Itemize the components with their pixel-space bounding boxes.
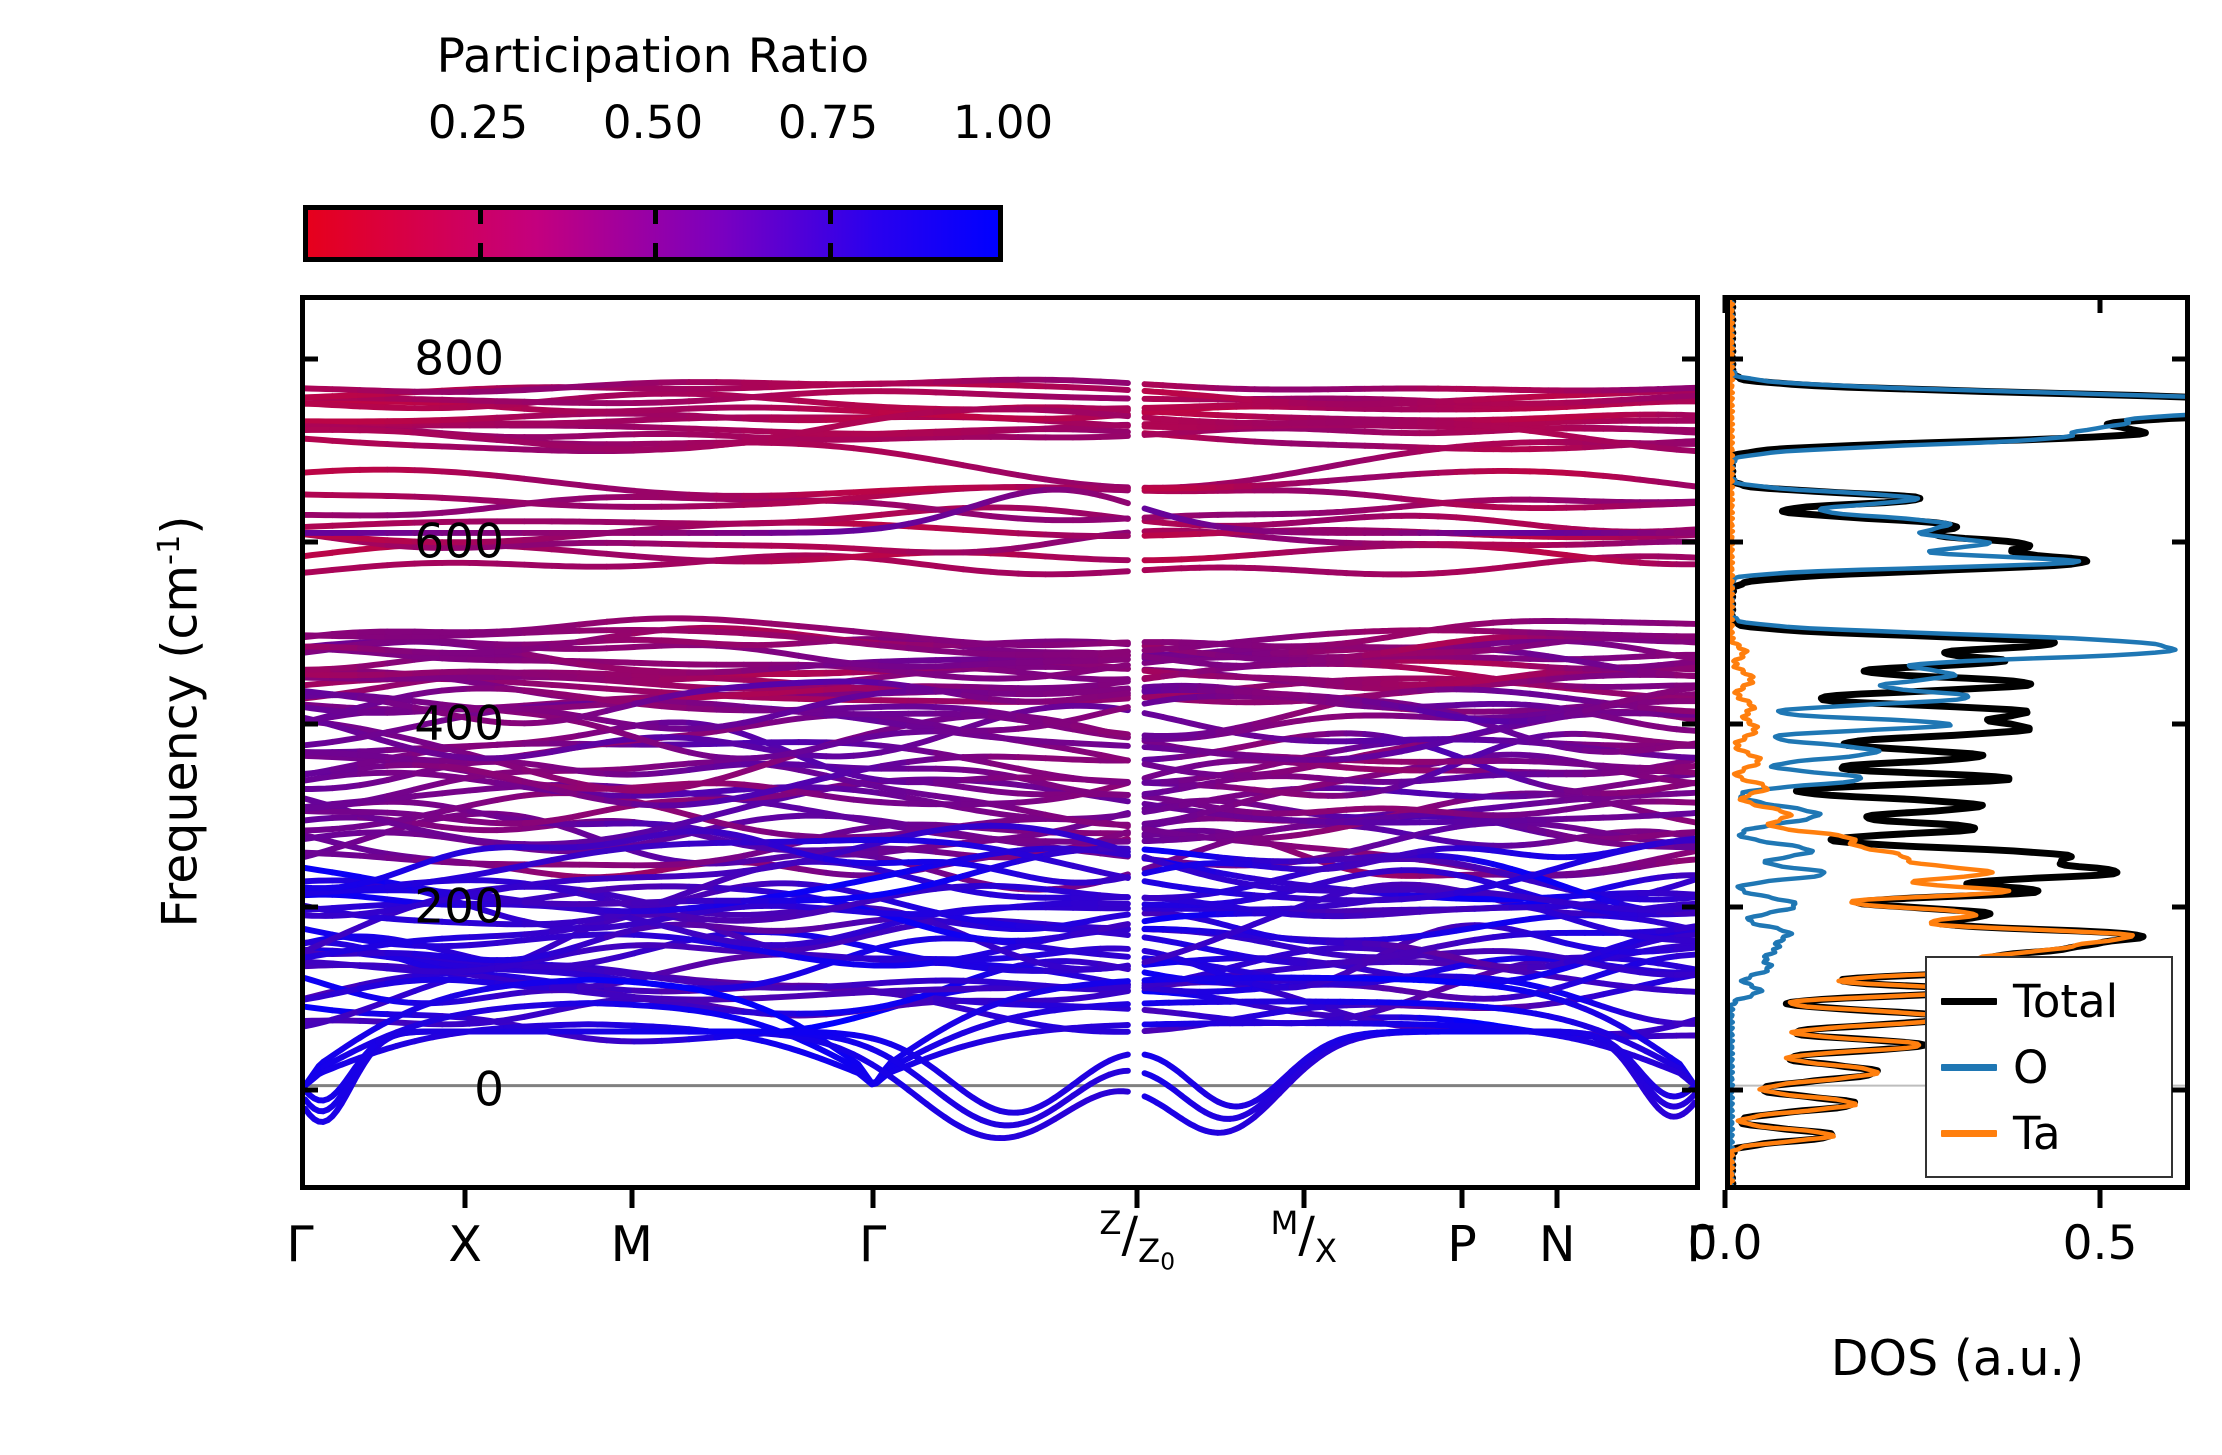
band-segment: [470, 473, 497, 475]
band-segment: [305, 570, 332, 573]
band-segment: [1018, 533, 1045, 534]
band-segment: [662, 493, 690, 495]
band-segment: [881, 559, 908, 562]
band-segment: [442, 677, 470, 678]
band-segment: [470, 959, 497, 960]
band-segment: [579, 985, 606, 988]
band-segment: [387, 391, 414, 392]
band-segment: [908, 749, 935, 753]
colorbar-tick-label: 0.50: [603, 96, 703, 149]
band-segment: [1677, 484, 1695, 486]
band-segment: [908, 962, 935, 965]
band-segment: [305, 788, 332, 789]
band-segment: [799, 965, 826, 974]
band-segment: [442, 1024, 470, 1025]
band-segment: [826, 547, 853, 548]
band-segment: [1100, 430, 1127, 432]
band-segment: [1073, 573, 1101, 574]
band-segment: [881, 490, 908, 491]
band-segment: [1073, 423, 1101, 425]
band-segment: [716, 499, 743, 500]
band-segment: [524, 709, 551, 712]
band-segment: [579, 663, 606, 667]
band-segment: [552, 625, 580, 628]
band-segment: [716, 430, 743, 431]
band-segment: [387, 650, 414, 652]
band-segment: [305, 835, 332, 839]
band-segment: [991, 940, 1018, 941]
band-segment: [689, 495, 716, 496]
figure-root: Participation Ratio 0.250.500.751.00 Fre…: [0, 0, 2222, 1455]
band-segment: [607, 420, 634, 421]
band-segment: [305, 880, 332, 881]
band-segment: [415, 971, 442, 972]
band-segment: [771, 546, 798, 547]
band-segment: [1677, 729, 1695, 730]
band-segment: [716, 808, 743, 815]
band-segment: [387, 407, 414, 408]
band-segment: [716, 442, 743, 445]
band-segment: [442, 498, 470, 499]
band-segment: [1046, 540, 1073, 544]
band-segment: [305, 756, 332, 757]
band-segment: [1073, 949, 1101, 951]
band-segment: [689, 703, 716, 705]
band-segment: [744, 418, 772, 419]
band-segment: [744, 680, 772, 682]
band-segment: [716, 671, 743, 672]
band-segment: [963, 695, 991, 699]
band-segment: [1677, 926, 1695, 929]
band-segment: [387, 899, 414, 902]
band-segment: [552, 387, 580, 389]
band-segment: [771, 394, 798, 396]
band-segment: [662, 808, 690, 815]
band-segment: [634, 556, 661, 558]
band-segment: [936, 714, 963, 715]
band-segment: [579, 969, 606, 972]
band-segment: [607, 911, 634, 912]
band-segment: [524, 538, 551, 540]
band-segment: [716, 764, 743, 766]
band-segment: [387, 726, 414, 732]
band-segment: [1677, 813, 1695, 814]
band-segment: [854, 631, 882, 634]
band-segment: [963, 714, 991, 716]
band-segment: [662, 544, 690, 545]
band-segment: [305, 962, 332, 964]
band-segment: [826, 708, 853, 709]
band-segment: [881, 634, 908, 637]
band-segment: [305, 829, 332, 830]
band-segment: [799, 787, 826, 788]
band-segment: [1100, 954, 1127, 956]
band-segment: [552, 685, 580, 687]
band-segment: [936, 796, 963, 800]
band-segment: [936, 852, 963, 855]
y-axis-label-exponent: -1: [152, 535, 187, 565]
band-segment: [1677, 934, 1695, 936]
band-segment: [1100, 414, 1127, 416]
colorbar-tick-labels: 0.250.500.751.00: [303, 96, 1003, 152]
band-segment: [1073, 714, 1101, 720]
band-segment: [1018, 490, 1045, 494]
band-segment: [607, 995, 634, 997]
band-segment: [991, 820, 1018, 822]
band-segment: [470, 507, 497, 510]
band-segment: [634, 565, 661, 566]
band-segment: [634, 910, 661, 911]
band-segment: [991, 688, 1018, 689]
band-segment: [991, 693, 1018, 694]
band-segment: [1018, 926, 1045, 928]
band-segment: [634, 619, 661, 620]
band-segment: [1100, 987, 1127, 988]
colorbar-tick-mark: [653, 243, 658, 257]
band-segment: [524, 820, 551, 823]
band-segment: [826, 957, 853, 958]
band-segment: [1100, 966, 1127, 969]
band-segment: [387, 682, 414, 686]
band-segment: [305, 471, 332, 473]
band-segment: [908, 408, 935, 409]
band-segment: [744, 914, 772, 915]
band-segment: [799, 940, 826, 944]
band-segment: [497, 1017, 524, 1021]
band-segment: [826, 923, 853, 927]
band-segment: [360, 896, 387, 899]
band-segment: [881, 849, 908, 852]
band-segment: [497, 672, 524, 673]
band-segment: [1073, 691, 1101, 693]
band-segment: [524, 673, 551, 675]
band-segment: [332, 667, 360, 669]
band-segment: [799, 808, 826, 813]
band-segment: [497, 401, 524, 402]
band-segment: [744, 523, 772, 524]
band-segment: [936, 665, 963, 666]
band-segment: [579, 934, 606, 935]
band-segment: [963, 981, 991, 982]
band-segment: [360, 698, 387, 702]
band-segment: [854, 528, 882, 531]
band-segment: [936, 410, 963, 412]
band-segment: [689, 767, 716, 770]
band-segment: [1677, 662, 1695, 664]
band-segment: [799, 836, 826, 837]
band-segment: [579, 447, 606, 449]
band-segment: [936, 780, 963, 782]
band-segment: [442, 400, 470, 401]
band-segment: [607, 434, 634, 435]
colorbar-title: Participation Ratio: [303, 30, 1003, 84]
band-segment: [716, 628, 743, 629]
band-segment: [963, 659, 991, 660]
band-segment: [826, 640, 853, 643]
band-segment: [799, 392, 826, 393]
band-segment: [552, 566, 580, 567]
band-segment: [305, 806, 332, 809]
band-segment: [854, 439, 882, 440]
band-segment: [332, 550, 360, 553]
band-segment: [936, 886, 963, 888]
band-segment: [552, 736, 580, 740]
band-segment: [716, 757, 743, 758]
band-segment: [936, 528, 963, 530]
band-segment: [771, 996, 798, 997]
band-segment: [1073, 778, 1101, 781]
y-axis-label: Frequency (cm-1): [152, 272, 209, 1172]
band-segment: [936, 488, 963, 489]
band-segment: [1677, 656, 1695, 659]
band-segment: [854, 643, 882, 646]
band-segment: [826, 672, 853, 673]
band-segment: [387, 673, 414, 674]
band-segment: [1018, 508, 1045, 510]
band-segment: [716, 957, 743, 961]
band-segment: [991, 763, 1018, 768]
band-segment: [662, 800, 690, 802]
band-segment: [607, 640, 634, 641]
band-segment: [744, 884, 772, 887]
band-segment: [963, 551, 991, 553]
band-segment: [854, 515, 882, 518]
band-segment: [415, 656, 442, 658]
band-segment: [881, 780, 908, 782]
band-segment: [305, 439, 332, 441]
band-segment: [552, 549, 580, 551]
band-segment: [1046, 427, 1073, 428]
band-segment: [1073, 743, 1101, 744]
band-segment: [963, 734, 991, 737]
band-segment: [634, 690, 661, 692]
band-segment: [936, 415, 963, 416]
band-segment: [1046, 535, 1073, 536]
band-segment: [854, 752, 882, 755]
band-segment: [1073, 397, 1101, 398]
band-segment: [826, 756, 853, 757]
band-segment: [662, 558, 690, 560]
band-segment: [579, 771, 606, 774]
band-segment: [1677, 819, 1695, 823]
band-segment: [771, 719, 798, 723]
band-segment: [689, 434, 716, 435]
band-segment: [1100, 932, 1127, 935]
band-segment: [607, 411, 634, 412]
band-segment: [881, 645, 908, 648]
band-segment: [1046, 397, 1073, 398]
colorbar-tick-mark: [478, 243, 483, 257]
band-segment: [854, 944, 882, 950]
band-segment: [524, 415, 551, 416]
band-segment: [991, 670, 1018, 673]
band-segment: [1677, 766, 1695, 767]
band-segment: [442, 689, 470, 691]
band-segment: [387, 641, 414, 642]
band-segment: [360, 905, 387, 906]
band-segment: [716, 986, 743, 988]
band-segment: [552, 543, 580, 544]
band-segment: [305, 495, 332, 496]
band-segment: [332, 738, 360, 742]
band-segment: [689, 400, 716, 402]
band-segment: [634, 522, 661, 523]
band-segment: [662, 448, 690, 449]
band-segment: [1677, 832, 1695, 833]
band-segment: [415, 420, 442, 421]
band-segment: [662, 414, 690, 415]
band-segment: [689, 752, 716, 757]
band-segment: [524, 690, 551, 693]
band-segment: [1073, 685, 1101, 687]
band-segment: [689, 677, 716, 679]
band-segment: [799, 637, 826, 639]
band-segment: [662, 640, 690, 642]
band-segment: [991, 894, 1018, 896]
band-segment: [579, 435, 606, 436]
band-segment: [991, 712, 1018, 716]
band-segment: [908, 526, 935, 528]
band-segment: [799, 626, 826, 628]
band-segment: [908, 552, 935, 553]
band-segment: [991, 777, 1018, 778]
band-segment: [826, 419, 853, 420]
band-segment: [1073, 706, 1101, 707]
band-segment: [305, 853, 332, 854]
band-segment: [744, 919, 772, 921]
band-segment: [360, 944, 387, 948]
band-segment: [360, 674, 387, 675]
band-segment: [1046, 410, 1073, 412]
band-segment: [607, 945, 634, 947]
band-segment: [908, 563, 935, 566]
band-segment: [854, 524, 882, 525]
band-segment: [881, 661, 908, 662]
band-segment: [579, 552, 606, 554]
band-segment: [579, 908, 606, 910]
band-segment: [552, 631, 580, 632]
band-segment: [826, 688, 853, 689]
band-segment: [1073, 387, 1101, 388]
band-segment: [497, 649, 524, 651]
band-segment: [771, 691, 798, 693]
band-segment: [470, 968, 497, 971]
band-segment: [689, 642, 716, 644]
band-segment: [908, 382, 935, 383]
band-segment: [470, 400, 497, 401]
band-segment: [387, 832, 414, 833]
band-segment: [716, 632, 743, 633]
band-segment: [991, 969, 1018, 971]
band-segment: [305, 683, 332, 685]
band-segment: [552, 482, 580, 485]
band-segment: [634, 402, 661, 403]
band-segment: [634, 975, 661, 978]
band-segment: [689, 631, 716, 632]
band-segment: [607, 394, 634, 396]
band-segment: [1677, 974, 1695, 975]
band-segment: [1073, 975, 1101, 980]
band-segment: [744, 669, 772, 671]
band-segment: [689, 727, 716, 729]
band-segment: [332, 785, 360, 788]
band-segment: [634, 991, 661, 992]
band-segment: [579, 731, 606, 736]
band-segment: [716, 644, 743, 645]
band-segment: [415, 641, 442, 642]
band-segment: [771, 944, 798, 945]
band-segment: [716, 772, 743, 780]
band-segment: [634, 675, 661, 676]
band-segment: [552, 675, 580, 677]
band-segment: [552, 499, 580, 501]
band-segment: [1018, 676, 1045, 678]
band-segment: [908, 731, 935, 732]
band-segment: [470, 981, 497, 983]
band-segment: [607, 739, 634, 742]
band-segment: [442, 434, 470, 436]
band-segment: [826, 713, 853, 714]
band-segment: [607, 972, 634, 975]
band-segment: [662, 563, 690, 565]
band-segment: [881, 550, 908, 551]
band-segment: [524, 544, 551, 545]
band-segment: [552, 706, 580, 708]
band-segment: [963, 431, 991, 432]
band-segment: [662, 978, 690, 981]
band-segment: [1677, 450, 1695, 451]
band-segment: [1073, 660, 1101, 661]
band-segment: [634, 851, 661, 858]
band-segment: [689, 802, 716, 805]
band-segment: [716, 723, 743, 727]
band-segment: [716, 920, 743, 921]
band-segment: [771, 643, 798, 644]
band-segment: [1100, 731, 1127, 735]
band-segment: [360, 663, 387, 666]
band-segment: [881, 732, 908, 735]
band-segment: [1018, 849, 1045, 851]
band-segment: [881, 981, 908, 983]
band-segment: [1100, 659, 1127, 660]
band-segment: [360, 966, 387, 969]
band-segment: [415, 946, 442, 947]
band-segment: [854, 664, 882, 666]
band-segment: [1100, 688, 1127, 690]
band-segment: [744, 387, 772, 388]
band-segment: [936, 460, 963, 465]
band-segment: [1018, 518, 1045, 519]
band-segment: [415, 939, 442, 941]
band-segment: [1018, 1005, 1045, 1006]
band-segment: [908, 738, 935, 746]
band-segment: [744, 943, 772, 945]
band-segment: [908, 792, 935, 796]
band-segment: [442, 980, 470, 981]
band-segment: [662, 737, 690, 738]
band-segment: [881, 415, 908, 419]
band-segment: [524, 763, 551, 767]
band-segment: [1100, 642, 1127, 643]
band-segment: [360, 994, 387, 1000]
band-segment: [662, 728, 690, 729]
band-segment: [387, 431, 414, 432]
band-segment: [1073, 520, 1101, 521]
band-segment: [360, 406, 387, 407]
band-segment: [991, 494, 1018, 501]
band-segment: [799, 682, 826, 683]
band-segment: [716, 619, 743, 621]
